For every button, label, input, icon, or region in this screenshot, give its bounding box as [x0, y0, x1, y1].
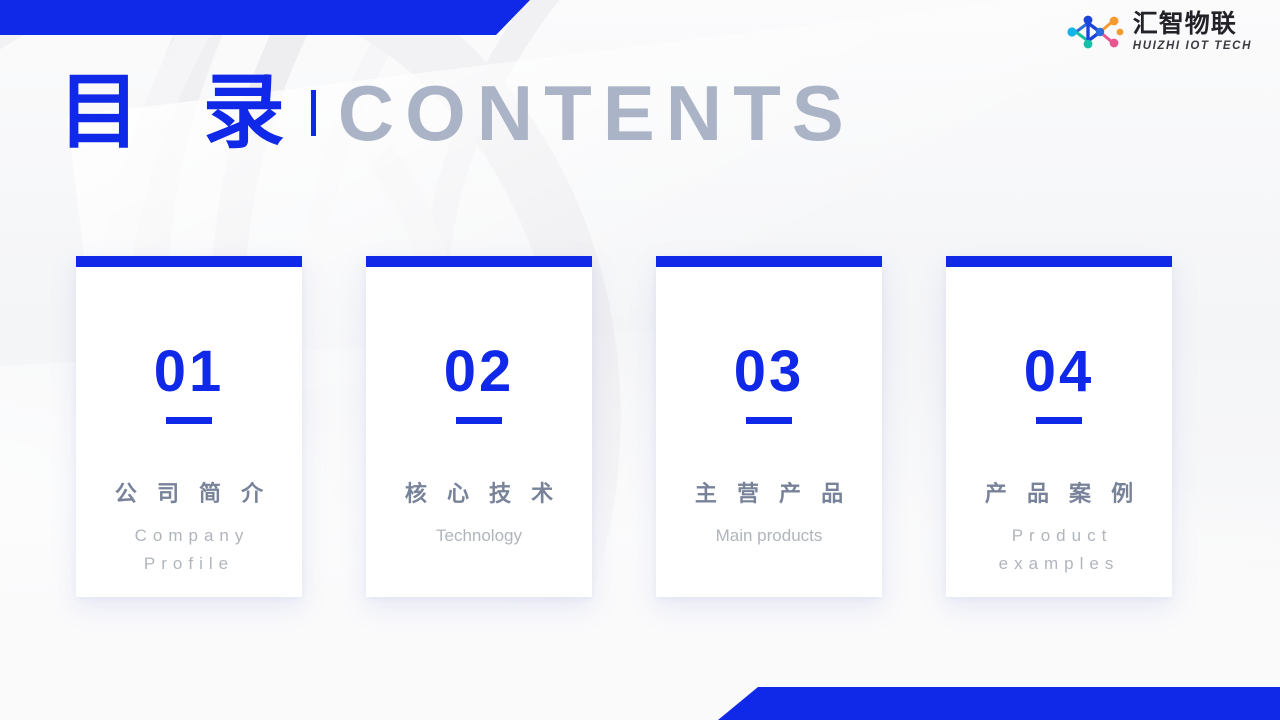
slide-canvas: 汇智物联 HUIZHI IOT TECH 目 录 CONTENTS 01 公 司… [0, 0, 1280, 720]
logo-name-en: HUIZHI IOT TECH [1133, 41, 1252, 53]
card-number: 03 [734, 343, 805, 401]
card-accent-bar [76, 256, 302, 267]
agenda-card-02[interactable]: 02 核 心 技 术 Technology [366, 256, 592, 597]
page-title-cn: 目 录 [58, 72, 305, 154]
company-logo: 汇智物联 HUIZHI IOT TECH [1067, 12, 1252, 53]
agenda-card-04[interactable]: 04 产 品 案 例 Product examples [946, 256, 1172, 597]
logo-wordmark: 汇智物联 HUIZHI IOT TECH [1133, 12, 1252, 53]
agenda-card-03[interactable]: 03 主 营 产 品 Main products [656, 256, 882, 597]
logo-name-cn: 汇智物联 [1133, 12, 1252, 37]
card-number: 04 [1024, 343, 1095, 401]
page-title: 目 录 CONTENTS [58, 72, 855, 154]
card-underline [456, 417, 502, 424]
card-label-en: Technology [436, 522, 522, 550]
card-label-en: Product examples [959, 522, 1159, 578]
agenda-card-01[interactable]: 01 公 司 简 介 Company Profile [76, 256, 302, 597]
card-label-cn: 公 司 简 介 [108, 476, 270, 508]
card-accent-bar [946, 256, 1172, 267]
agenda-card-list: 01 公 司 简 介 Company Profile 02 核 心 技 术 Te… [76, 256, 1172, 597]
page-title-en: CONTENTS [338, 74, 855, 152]
card-underline [746, 417, 792, 424]
card-number: 01 [154, 343, 225, 401]
card-underline [166, 417, 212, 424]
card-accent-bar [656, 256, 882, 267]
card-label-cn: 核 心 技 术 [398, 476, 560, 508]
card-label-cn: 产 品 案 例 [978, 476, 1140, 508]
card-underline [1036, 417, 1082, 424]
molecule-network-icon [1067, 13, 1125, 51]
bottom-right-accent-banner [718, 687, 1280, 720]
card-label-en: Company Profile [89, 522, 289, 578]
card-accent-bar [366, 256, 592, 267]
title-separator-bar [311, 90, 316, 136]
top-left-accent-banner [0, 0, 530, 35]
card-number: 02 [444, 343, 515, 401]
card-label-cn: 主 营 产 品 [688, 476, 850, 508]
card-label-en: Main products [716, 522, 823, 550]
